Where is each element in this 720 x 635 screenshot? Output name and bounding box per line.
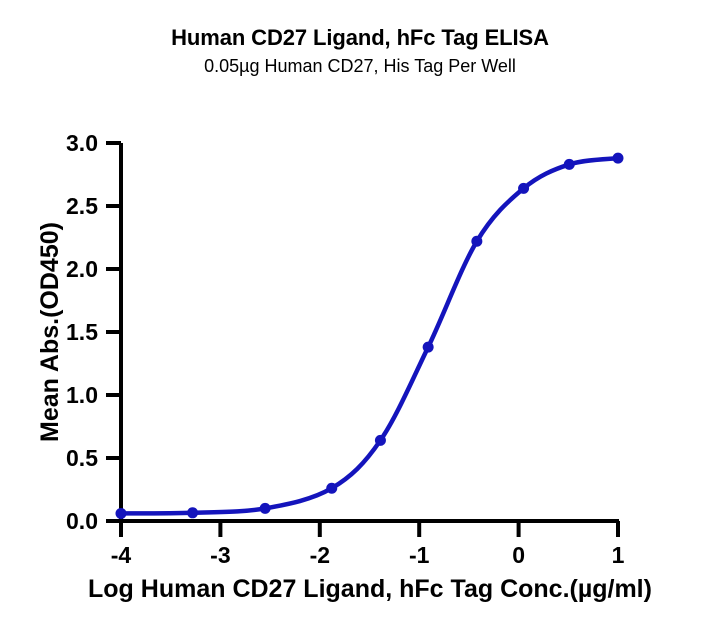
y-tick-label: 2.5: [66, 193, 98, 219]
data-point-marker: [187, 507, 198, 518]
y-axis-title: Mean Abs.(OD450): [36, 222, 64, 442]
plot-canvas: 0.00.51.01.52.02.53.0 -4-3-2-101 Mean Ab…: [0, 0, 720, 635]
y-tick-label: 0.0: [66, 508, 98, 534]
data-point-marker: [518, 183, 529, 194]
x-tick-label: -2: [310, 542, 330, 568]
data-point-marker: [471, 236, 482, 247]
x-tick-label: 0: [512, 542, 525, 568]
y-tick-label: 2.0: [66, 256, 98, 282]
y-tick-label: 1.5: [66, 319, 98, 345]
y-axis-tick-labels: 0.00.51.01.52.02.53.0: [66, 130, 98, 534]
x-tick-label: -4: [111, 542, 132, 568]
data-series-line: [121, 158, 618, 513]
data-point-marker: [260, 503, 271, 514]
elisa-chart-figure: Human CD27 Ligand, hFc Tag ELISA 0.05µg …: [0, 0, 720, 635]
y-tick-label: 1.0: [66, 382, 98, 408]
data-point-marker: [326, 483, 337, 494]
x-axis-title: Log Human CD27 Ligand, hFc Tag Conc.(µg/…: [88, 575, 652, 603]
data-point-marker: [375, 435, 386, 446]
x-axis-tick-labels: -4-3-2-101: [111, 542, 625, 568]
y-tick-label: 3.0: [66, 130, 98, 156]
data-point-marker: [613, 153, 624, 164]
axes-group: [119, 143, 619, 521]
data-series-group: [116, 153, 624, 519]
x-tick-label: -3: [210, 542, 230, 568]
y-axis-ticks: [106, 143, 121, 521]
data-point-marker: [116, 508, 127, 519]
x-tick-label: 1: [612, 542, 625, 568]
x-axis-ticks: [121, 521, 618, 537]
y-tick-label: 0.5: [66, 445, 98, 471]
data-point-marker: [564, 159, 575, 170]
x-tick-label: -1: [409, 542, 430, 568]
data-point-marker: [423, 342, 434, 353]
